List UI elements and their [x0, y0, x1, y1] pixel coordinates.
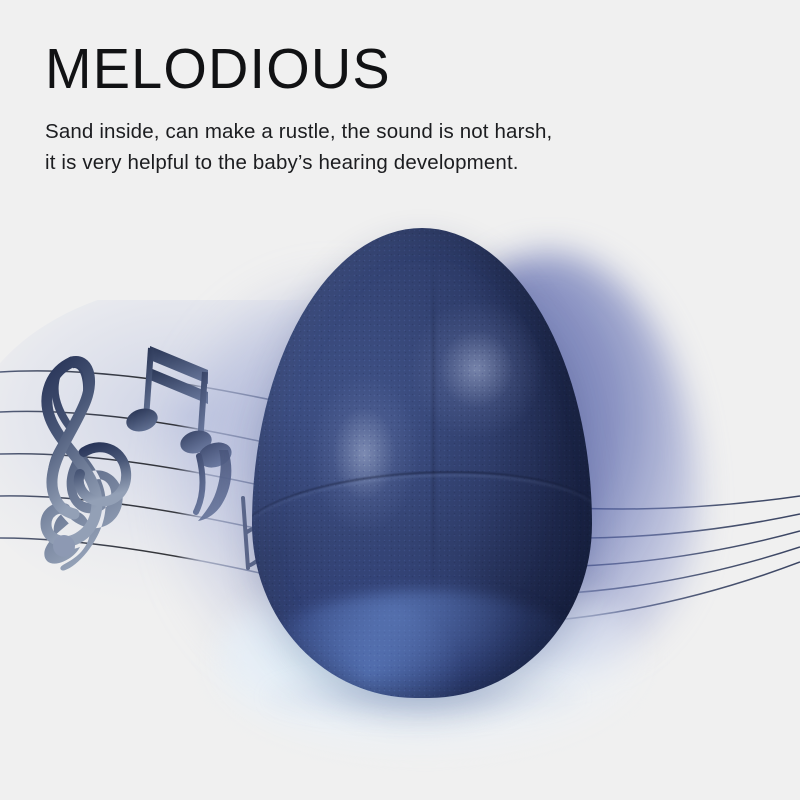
egg-seam-line: [252, 462, 592, 595]
subtitle: Sand inside, can make a rustle, the soun…: [45, 116, 745, 178]
subtitle-line-1: Sand inside, can make a rustle, the soun…: [45, 116, 745, 147]
page-title: MELODIOUS: [45, 38, 731, 100]
promo-banner: MELODIOUS Sand inside, can make a rustle…: [0, 0, 800, 800]
egg-mould-line: [432, 256, 435, 604]
text-block: MELODIOUS Sand inside, can make a rustle…: [45, 38, 745, 178]
subtitle-line-2: it is very helpful to the baby’s hearing…: [45, 147, 745, 178]
egg-seam-highlight: [252, 465, 592, 598]
